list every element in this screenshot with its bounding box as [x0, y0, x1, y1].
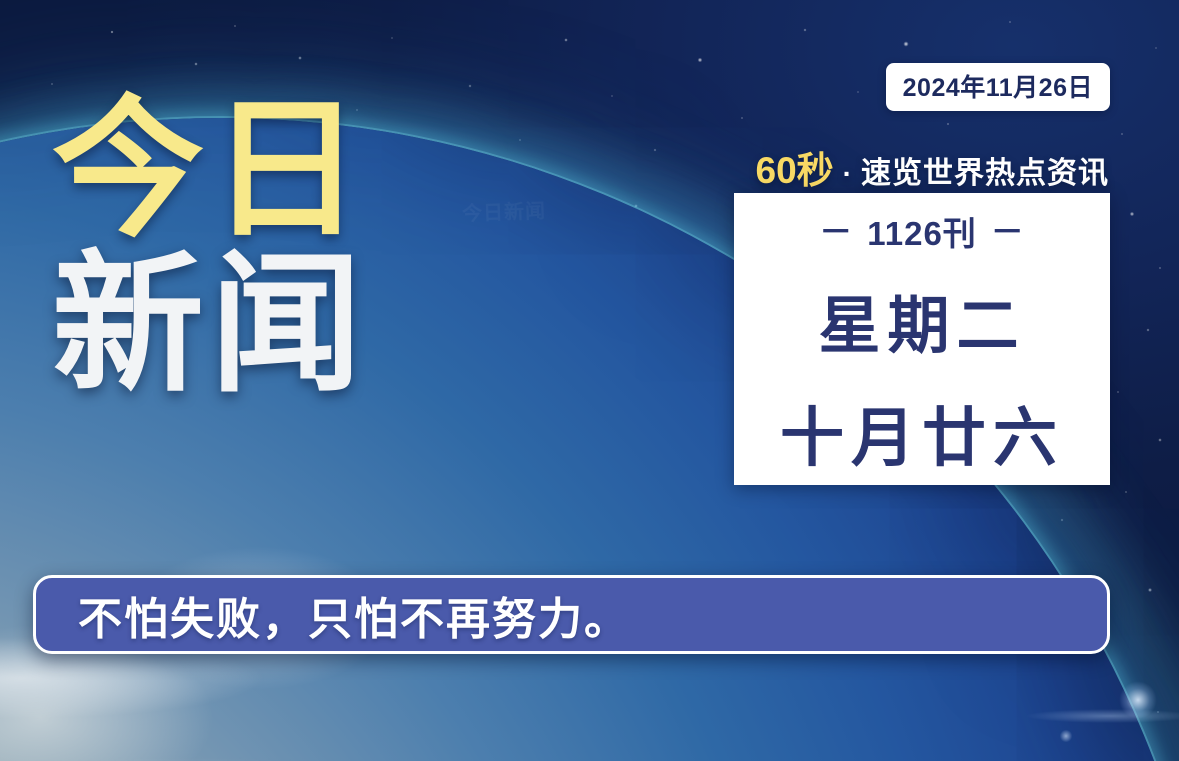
tagline: 60秒 · 速览世界热点资讯 — [756, 140, 1109, 194]
masthead: 今日 新闻 — [52, 96, 368, 400]
quote-text: 不怕失败，只怕不再努力。 — [78, 583, 630, 647]
masthead-line-news: 新闻 — [52, 251, 368, 400]
date-info-card: － 1126刊 － 星期二 十月廿六 — [734, 193, 1110, 485]
tagline-seconds: 60秒 — [756, 140, 834, 194]
issue-number: 1126刊 — [867, 207, 977, 255]
issue-dash-right: － — [991, 215, 1025, 248]
weekday-label: 星期二 — [818, 275, 1025, 365]
date-badge: 2024年11月26日 — [886, 63, 1110, 111]
quote-bar: 不怕失败，只怕不再努力。 — [33, 575, 1110, 654]
tagline-description: 速览世界热点资讯 — [861, 148, 1109, 192]
issue-row: － 1126刊 － — [819, 207, 1025, 255]
news-poster: 今日新闻 今日 新闻 2024年11月26日 60秒 · 速览世界热点资讯 － … — [0, 0, 1179, 761]
lunar-date-label: 十月廿六 — [780, 387, 1064, 479]
tagline-separator-dot: · — [836, 158, 859, 190]
issue-dash-left: － — [819, 215, 853, 248]
masthead-line-today: 今日 — [52, 96, 368, 245]
